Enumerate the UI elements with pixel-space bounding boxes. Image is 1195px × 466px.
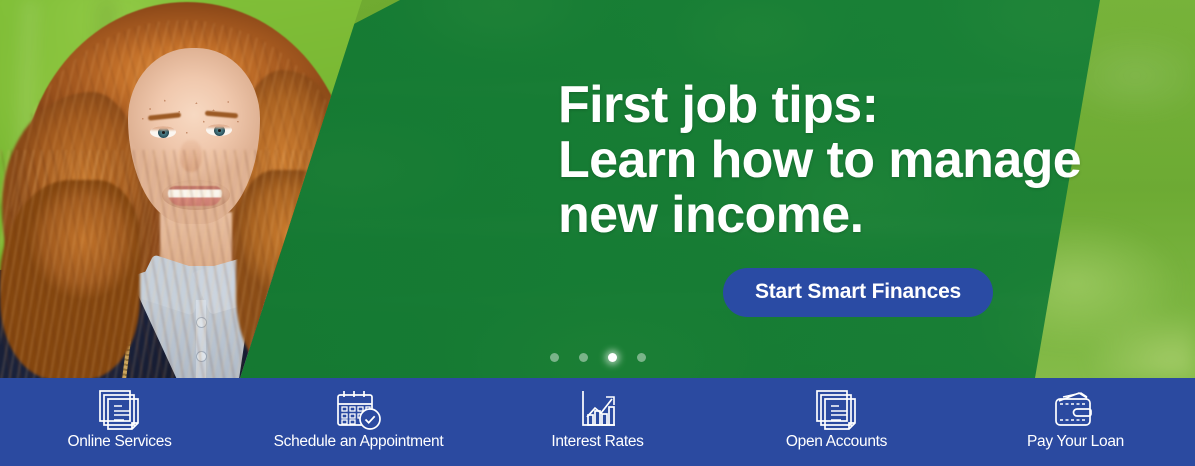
quick-links-bar: Online Services [0, 378, 1195, 466]
start-smart-finances-button[interactable]: Start Smart Finances [723, 268, 993, 317]
eyelid-right [206, 124, 232, 128]
quicknav-item-schedule-appointment[interactable]: Schedule an Appointment [239, 378, 478, 466]
eye-left [150, 126, 176, 138]
hero-slide: First job tips: Learn how to manage new … [0, 0, 1195, 378]
carousel-dot-2[interactable] [579, 353, 588, 362]
hero-headline: First job tips: Learn how to manage new … [558, 78, 1158, 243]
quicknav-item-open-accounts[interactable]: Open Accounts [717, 378, 956, 466]
carousel-dot-4[interactable] [637, 353, 646, 362]
eye-right [206, 124, 232, 136]
quicknav-label: Open Accounts [786, 433, 887, 451]
hero-cta-container: Start Smart Finances [558, 268, 1158, 317]
hero-copy: First job tips: Learn how to manage new … [558, 78, 1158, 243]
bar-chart-up-arrow-icon [570, 387, 626, 431]
quicknav-label: Schedule an Appointment [274, 433, 444, 451]
carousel-dots [550, 353, 660, 362]
promo-banner: First job tips: Learn how to manage new … [0, 0, 1195, 466]
quicknav-label: Online Services [67, 433, 171, 451]
wallet-icon [1047, 387, 1105, 431]
quicknav-item-interest-rates[interactable]: Interest Rates [478, 378, 717, 466]
stacked-documents-icon [809, 387, 865, 431]
quicknav-item-online-services[interactable]: Online Services [0, 378, 239, 466]
eyelid-left [150, 126, 176, 130]
calendar-check-icon [330, 387, 388, 431]
carousel-dot-1[interactable] [550, 353, 559, 362]
carousel-dot-3-active[interactable] [608, 353, 617, 362]
stacked-documents-icon [92, 387, 148, 431]
quicknav-label: Pay Your Loan [1027, 433, 1124, 451]
quicknav-label: Interest Rates [551, 433, 643, 451]
quicknav-item-pay-your-loan[interactable]: Pay Your Loan [956, 378, 1195, 466]
